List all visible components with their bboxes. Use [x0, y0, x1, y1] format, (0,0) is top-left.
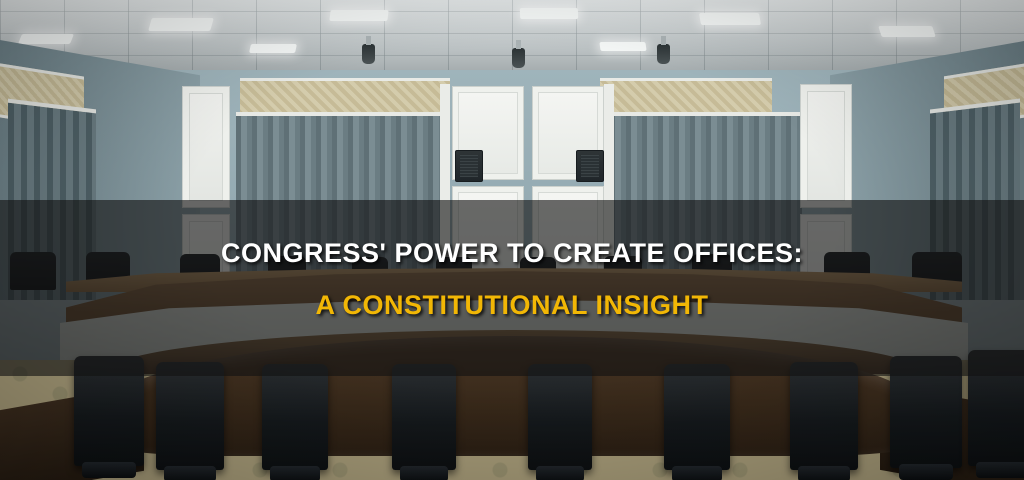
wall-speaker-right — [576, 150, 604, 182]
overlay-title-line-1: CONGRESS' POWER TO CREATE OFFICES: — [0, 236, 1024, 272]
spotlight-icon — [512, 48, 525, 68]
ceiling-light — [18, 34, 74, 44]
overlay-title-line-2: A CONSTITUTIONAL INSIGHT — [0, 288, 1024, 324]
wall-panel-left-upper — [182, 86, 230, 208]
foreground-chair — [392, 364, 456, 470]
overlay-title-block: CONGRESS' POWER TO CREATE OFFICES: A CON… — [0, 236, 1024, 323]
spotlight-icon — [657, 44, 670, 64]
ceiling-light — [249, 44, 297, 53]
foreground-chair — [262, 364, 328, 470]
screenshot-root: CONGRESS' POWER TO CREATE OFFICES: A CON… — [0, 0, 1024, 480]
foreground-chair — [156, 362, 224, 470]
ceiling-light — [699, 13, 761, 25]
wall-speaker-left — [455, 150, 483, 182]
ceiling-light — [148, 18, 214, 31]
ceiling-light — [878, 26, 936, 37]
foreground-chair — [528, 364, 592, 470]
foreground-chair — [664, 364, 730, 470]
ceiling-light — [599, 42, 646, 51]
spotlight-icon — [362, 44, 375, 64]
foreground-chair — [790, 362, 858, 470]
ceiling-light — [329, 10, 388, 21]
ceiling-light — [520, 8, 578, 19]
wall-panel-right-upper — [800, 84, 852, 208]
